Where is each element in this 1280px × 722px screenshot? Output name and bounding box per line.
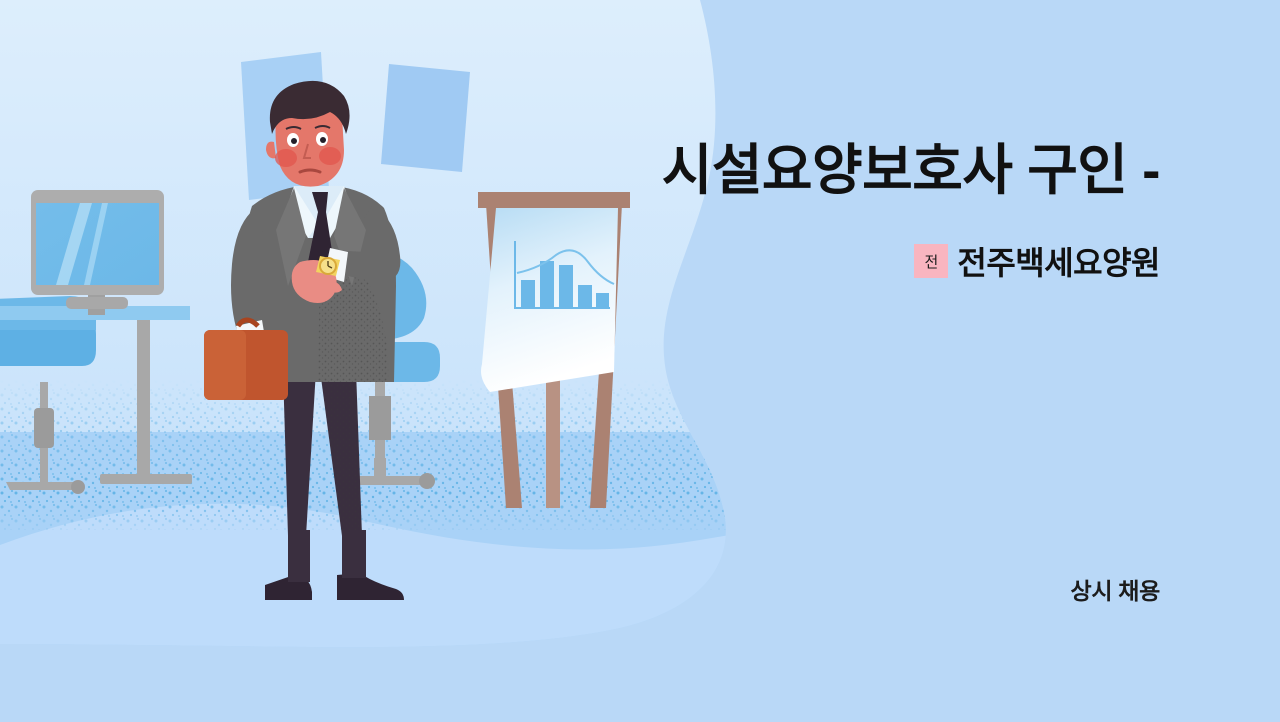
illustration-container bbox=[0, 0, 760, 722]
company-badge: 전 bbox=[914, 244, 948, 278]
briefcase bbox=[204, 320, 288, 400]
job-title: 시설요양보호사 구인 - bbox=[360, 140, 1160, 202]
illustration-blob bbox=[0, 0, 760, 722]
hiring-status: 상시 채용 bbox=[1070, 572, 1160, 606]
company-name: 전주백세요양원 bbox=[957, 238, 1160, 284]
company-row[interactable]: 전 전주백세요양원 bbox=[914, 238, 1160, 284]
office-scene-illustration bbox=[0, 0, 760, 722]
job-posting-banner: 시설요양보호사 구인 - 전 전주백세요양원 상시 채용 bbox=[0, 0, 1280, 722]
